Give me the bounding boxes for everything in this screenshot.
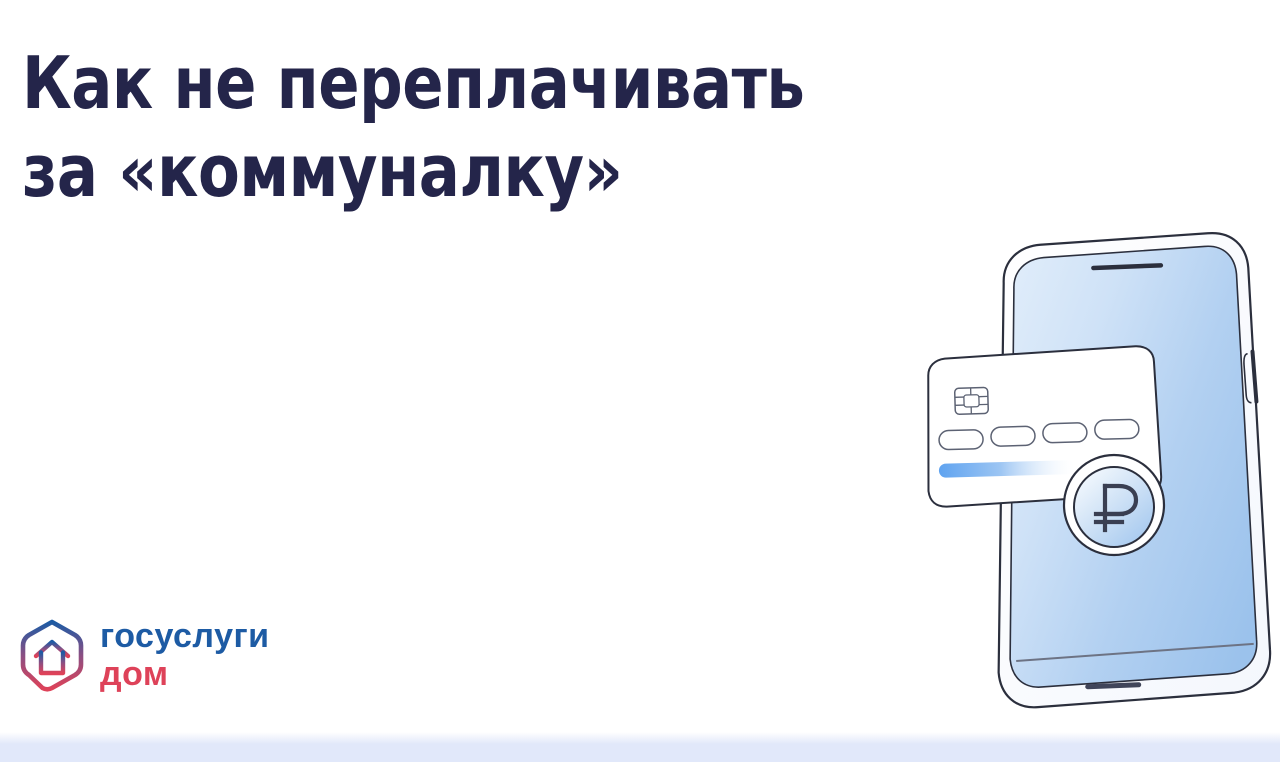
brand-logo[interactable]: госуслуги дом xyxy=(18,618,270,692)
ruble-coin-group xyxy=(1064,455,1164,555)
brand-word-gosuslugi: госуслуги xyxy=(100,619,270,653)
brand-word-dom: дом xyxy=(100,657,270,691)
bottom-band-fade xyxy=(0,732,1280,744)
coin-inner-disc xyxy=(1074,467,1154,547)
house-in-hexagon-icon xyxy=(18,618,86,692)
illustration-smartphone-payment xyxy=(900,218,1280,743)
poster-canvas: Как не переплачивать за «коммуналку» xyxy=(0,0,1280,762)
brand-logo-wordmark: госуслуги дом xyxy=(100,619,270,691)
bottom-band xyxy=(0,744,1280,762)
page-title-line-2: за «коммуналку» xyxy=(22,128,849,216)
page-title: Как не переплачивать за «коммуналку» xyxy=(22,40,849,216)
page-title-line-1: Как не переплачивать xyxy=(22,40,849,128)
